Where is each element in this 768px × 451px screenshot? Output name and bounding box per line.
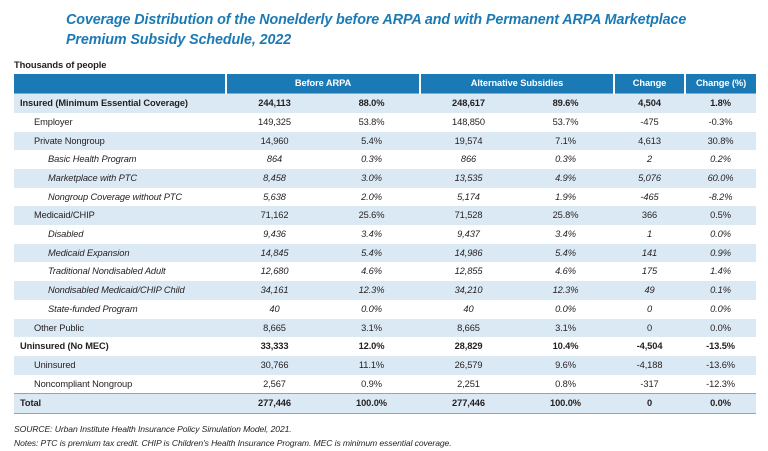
row-label: Uninsured bbox=[14, 356, 226, 375]
cell-before-p: 12.0% bbox=[323, 337, 420, 356]
table-page: Coverage Distribution of the Nonelderly … bbox=[0, 11, 768, 446]
row-label: Marketplace with PTC bbox=[14, 169, 226, 188]
cell-before-p: 0.3% bbox=[323, 150, 420, 169]
cell-before-n: 5,638 bbox=[226, 188, 323, 207]
row-label: Medicaid Expansion bbox=[14, 244, 226, 263]
cell-chg-p: -8.2% bbox=[685, 188, 756, 207]
cell-chg: 2 bbox=[614, 150, 685, 169]
cell-alt-n: 248,617 bbox=[420, 94, 517, 113]
cell-alt-p: 5.4% bbox=[517, 244, 614, 263]
row-label: Traditional Nondisabled Adult bbox=[14, 262, 226, 281]
coverage-distribution-table: Before ARPA Alternative Subsidies Change… bbox=[14, 74, 756, 414]
cell-chg-p: 0.5% bbox=[685, 206, 756, 225]
cell-chg-p: -13.5% bbox=[685, 337, 756, 356]
cell-alt-p: 0.3% bbox=[517, 150, 614, 169]
table-row: Medicaid/CHIP71,16225.6%71,52825.8%3660.… bbox=[14, 206, 756, 225]
header-alternative-subsidies: Alternative Subsidies bbox=[420, 74, 614, 93]
cell-alt-n: 13,535 bbox=[420, 169, 517, 188]
row-label: Medicaid/CHIP bbox=[14, 206, 226, 225]
row-label: Total bbox=[14, 394, 226, 414]
cell-chg-p: 0.0% bbox=[685, 225, 756, 244]
cell-before-p: 3.0% bbox=[323, 169, 420, 188]
cell-before-p: 100.0% bbox=[323, 394, 420, 414]
cell-alt-n: 34,210 bbox=[420, 281, 517, 300]
table-row: Traditional Nondisabled Adult12,6804.6%1… bbox=[14, 262, 756, 281]
cell-chg: 1 bbox=[614, 225, 685, 244]
cell-alt-p: 4.6% bbox=[517, 262, 614, 281]
header-before-arpa: Before ARPA bbox=[226, 74, 420, 93]
cell-chg: 4,613 bbox=[614, 132, 685, 151]
table-row: Uninsured30,76611.1%26,5799.6%-4,188-13.… bbox=[14, 356, 756, 375]
units-label: Thousands of people bbox=[14, 59, 768, 70]
cell-chg: 366 bbox=[614, 206, 685, 225]
table-row: Employer149,32553.8%148,85053.7%-475-0.3… bbox=[14, 113, 756, 132]
cell-alt-p: 9.6% bbox=[517, 356, 614, 375]
row-label: Disabled bbox=[14, 225, 226, 244]
cell-before-n: 14,960 bbox=[226, 132, 323, 151]
cell-chg: -475 bbox=[614, 113, 685, 132]
cell-alt-n: 28,829 bbox=[420, 337, 517, 356]
cell-alt-n: 14,986 bbox=[420, 244, 517, 263]
cell-chg: 49 bbox=[614, 281, 685, 300]
cell-chg-p: -0.3% bbox=[685, 113, 756, 132]
cell-alt-n: 19,574 bbox=[420, 132, 517, 151]
table-row: Marketplace with PTC8,4583.0%13,5354.9%5… bbox=[14, 169, 756, 188]
cell-before-p: 11.1% bbox=[323, 356, 420, 375]
cell-alt-p: 25.8% bbox=[517, 206, 614, 225]
cell-chg-p: 1.8% bbox=[685, 94, 756, 113]
row-label: Nondisabled Medicaid/CHIP Child bbox=[14, 281, 226, 300]
table-row: Nongroup Coverage without PTC5,6382.0%5,… bbox=[14, 188, 756, 207]
cell-chg: 0 bbox=[614, 394, 685, 414]
header-change: Change bbox=[614, 74, 685, 93]
definitions-note: Notes: PTC is premium tax credit. CHIP i… bbox=[14, 437, 768, 451]
table-header: Before ARPA Alternative Subsidies Change… bbox=[14, 74, 756, 93]
cell-alt-n: 277,446 bbox=[420, 394, 517, 414]
cell-before-p: 5.4% bbox=[323, 132, 420, 151]
cell-alt-p: 3.1% bbox=[517, 319, 614, 338]
cell-alt-p: 12.3% bbox=[517, 281, 614, 300]
cell-chg: 4,504 bbox=[614, 94, 685, 113]
row-label: Uninsured (No MEC) bbox=[14, 337, 226, 356]
cell-alt-p: 0.8% bbox=[517, 375, 614, 394]
cell-chg: 141 bbox=[614, 244, 685, 263]
cell-alt-n: 12,855 bbox=[420, 262, 517, 281]
table-row: Uninsured (No MEC)33,33312.0%28,82910.4%… bbox=[14, 337, 756, 356]
cell-chg: -4,504 bbox=[614, 337, 685, 356]
header-label-col bbox=[14, 74, 226, 93]
cell-chg-p: -13.6% bbox=[685, 356, 756, 375]
cell-before-n: 34,161 bbox=[226, 281, 323, 300]
cell-before-n: 12,680 bbox=[226, 262, 323, 281]
row-label: Private Nongroup bbox=[14, 132, 226, 151]
cell-alt-n: 26,579 bbox=[420, 356, 517, 375]
cell-alt-p: 53.7% bbox=[517, 113, 614, 132]
row-label: Other Public bbox=[14, 319, 226, 338]
cell-alt-p: 89.6% bbox=[517, 94, 614, 113]
footnotes: SOURCE: Urban Institute Health Insurance… bbox=[14, 423, 768, 451]
cell-chg-p: 0.0% bbox=[685, 300, 756, 319]
cell-alt-n: 148,850 bbox=[420, 113, 517, 132]
cell-chg: -317 bbox=[614, 375, 685, 394]
cell-before-n: 149,325 bbox=[226, 113, 323, 132]
cell-before-n: 40 bbox=[226, 300, 323, 319]
table-row: State-funded Program400.0%400.0%00.0% bbox=[14, 300, 756, 319]
cell-before-p: 5.4% bbox=[323, 244, 420, 263]
table-row: Medicaid Expansion14,8455.4%14,9865.4%14… bbox=[14, 244, 756, 263]
cell-chg-p: 0.0% bbox=[685, 394, 756, 414]
row-label: Employer bbox=[14, 113, 226, 132]
cell-alt-p: 4.9% bbox=[517, 169, 614, 188]
cell-alt-p: 10.4% bbox=[517, 337, 614, 356]
cell-before-p: 0.0% bbox=[323, 300, 420, 319]
table-row: Noncompliant Nongroup2,5670.9%2,2510.8%-… bbox=[14, 375, 756, 394]
row-label: State-funded Program bbox=[14, 300, 226, 319]
cell-alt-n: 9,437 bbox=[420, 225, 517, 244]
cell-alt-p: 3.4% bbox=[517, 225, 614, 244]
table-row: Basic Health Program8640.3%8660.3%20.2% bbox=[14, 150, 756, 169]
cell-chg-p: 0.9% bbox=[685, 244, 756, 263]
cell-chg-p: 0.0% bbox=[685, 319, 756, 338]
cell-before-n: 244,113 bbox=[226, 94, 323, 113]
cell-alt-p: 1.9% bbox=[517, 188, 614, 207]
cell-before-n: 8,665 bbox=[226, 319, 323, 338]
cell-alt-n: 5,174 bbox=[420, 188, 517, 207]
cell-before-p: 4.6% bbox=[323, 262, 420, 281]
cell-before-n: 30,766 bbox=[226, 356, 323, 375]
cell-chg-p: 1.4% bbox=[685, 262, 756, 281]
cell-chg-p: -12.3% bbox=[685, 375, 756, 394]
table-body: Insured (Minimum Essential Coverage)244,… bbox=[14, 94, 756, 414]
cell-alt-p: 7.1% bbox=[517, 132, 614, 151]
cell-before-n: 71,162 bbox=[226, 206, 323, 225]
cell-before-p: 53.8% bbox=[323, 113, 420, 132]
cell-before-p: 3.4% bbox=[323, 225, 420, 244]
cell-before-n: 14,845 bbox=[226, 244, 323, 263]
cell-chg: 175 bbox=[614, 262, 685, 281]
cell-before-n: 864 bbox=[226, 150, 323, 169]
row-label: Basic Health Program bbox=[14, 150, 226, 169]
cell-before-p: 12.3% bbox=[323, 281, 420, 300]
cell-chg: -4,188 bbox=[614, 356, 685, 375]
cell-chg-p: 30.8% bbox=[685, 132, 756, 151]
page-title: Coverage Distribution of the Nonelderly … bbox=[66, 11, 750, 50]
cell-chg: 0 bbox=[614, 300, 685, 319]
cell-chg-p: 60.0% bbox=[685, 169, 756, 188]
row-label: Noncompliant Nongroup bbox=[14, 375, 226, 394]
cell-alt-n: 71,528 bbox=[420, 206, 517, 225]
cell-chg: -465 bbox=[614, 188, 685, 207]
cell-before-p: 2.0% bbox=[323, 188, 420, 207]
cell-chg: 0 bbox=[614, 319, 685, 338]
cell-alt-p: 100.0% bbox=[517, 394, 614, 414]
cell-alt-n: 40 bbox=[420, 300, 517, 319]
cell-before-p: 3.1% bbox=[323, 319, 420, 338]
cell-before-n: 8,458 bbox=[226, 169, 323, 188]
cell-chg: 5,076 bbox=[614, 169, 685, 188]
cell-before-n: 2,567 bbox=[226, 375, 323, 394]
table-row: Total277,446100.0%277,446100.0%00.0% bbox=[14, 394, 756, 414]
table-row: Insured (Minimum Essential Coverage)244,… bbox=[14, 94, 756, 113]
table-row: Disabled9,4363.4%9,4373.4%10.0% bbox=[14, 225, 756, 244]
cell-before-p: 88.0% bbox=[323, 94, 420, 113]
cell-chg-p: 0.1% bbox=[685, 281, 756, 300]
header-row: Before ARPA Alternative Subsidies Change… bbox=[14, 74, 756, 93]
row-label: Insured (Minimum Essential Coverage) bbox=[14, 94, 226, 113]
cell-alt-p: 0.0% bbox=[517, 300, 614, 319]
cell-before-p: 0.9% bbox=[323, 375, 420, 394]
cell-alt-n: 2,251 bbox=[420, 375, 517, 394]
cell-before-p: 25.6% bbox=[323, 206, 420, 225]
cell-alt-n: 866 bbox=[420, 150, 517, 169]
table-row: Other Public8,6653.1%8,6653.1%00.0% bbox=[14, 319, 756, 338]
cell-before-n: 9,436 bbox=[226, 225, 323, 244]
cell-alt-n: 8,665 bbox=[420, 319, 517, 338]
header-change-pct: Change (%) bbox=[685, 74, 756, 93]
cell-chg-p: 0.2% bbox=[685, 150, 756, 169]
table-row: Private Nongroup14,9605.4%19,5747.1%4,61… bbox=[14, 132, 756, 151]
cell-before-n: 277,446 bbox=[226, 394, 323, 414]
row-label: Nongroup Coverage without PTC bbox=[14, 188, 226, 207]
cell-before-n: 33,333 bbox=[226, 337, 323, 356]
table-row: Nondisabled Medicaid/CHIP Child34,16112.… bbox=[14, 281, 756, 300]
